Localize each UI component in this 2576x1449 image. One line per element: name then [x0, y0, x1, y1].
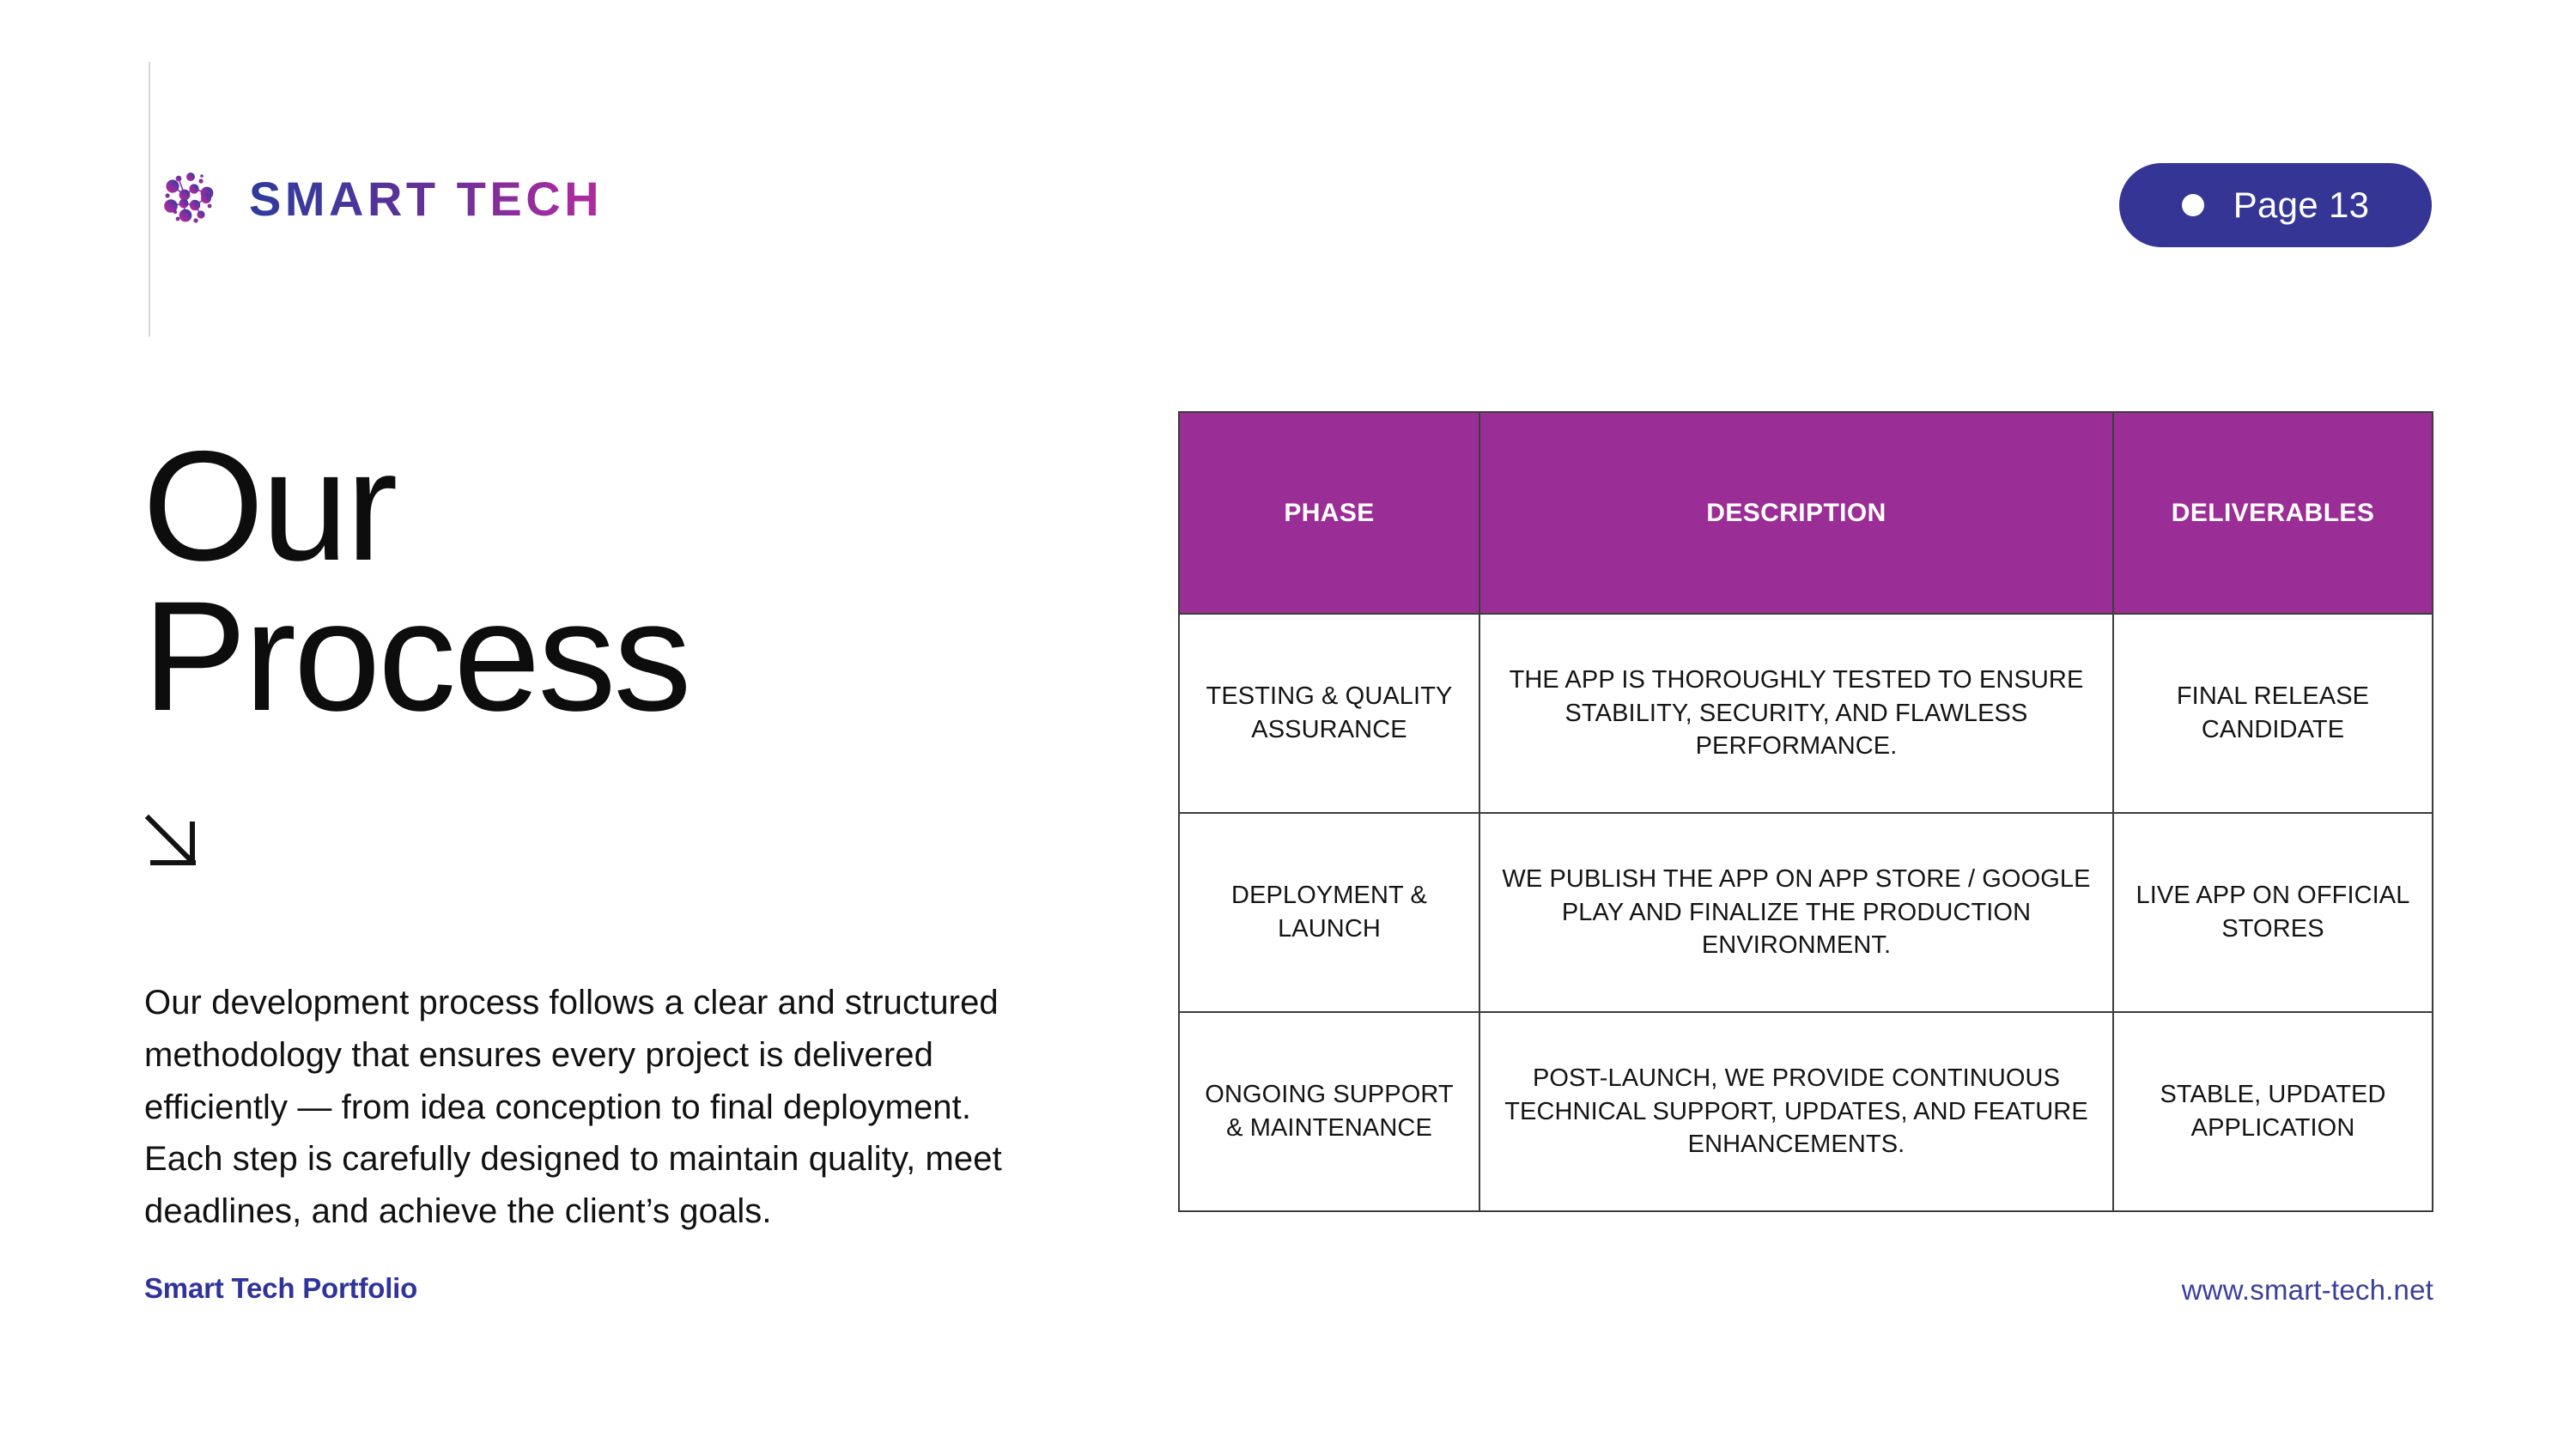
brand-name: SMART TECH — [249, 175, 603, 223]
cell-deliverables: LIVE APP ON OFFICIAL STORES — [2113, 813, 2433, 1012]
cell-deliverables: STABLE, UPDATED APPLICATION — [2113, 1012, 2433, 1211]
table-row: ONGOING SUPPORT & MAINTENANCE POST-LAUNC… — [1179, 1012, 2433, 1211]
brand-lockup: SMART TECH — [160, 167, 603, 231]
page-title-line-1: Our — [143, 431, 1053, 581]
page-title-line-2: Process — [143, 581, 1053, 731]
cell-deliverables: FINAL RELEASE CANDIDATE — [2113, 614, 2433, 813]
process-table: PHASE DESCRIPTION DELIVERABLES TESTING &… — [1178, 411, 2433, 1212]
cell-phase: DEPLOYMENT & LAUNCH — [1179, 813, 1479, 1012]
page-badge-label: Page 13 — [2233, 187, 2370, 223]
cell-description: WE PUBLISH THE APP ON APP STORE / GOOGLE… — [1479, 813, 2113, 1012]
left-accent-rule — [149, 62, 150, 336]
molecule-network-icon — [160, 167, 223, 231]
column-header-description: DESCRIPTION — [1479, 412, 2113, 614]
footer-website-link[interactable]: www.smart-tech.net — [2182, 1274, 2433, 1307]
arrow-down-right-icon — [144, 814, 201, 870]
column-header-deliverables: DELIVERABLES — [2113, 412, 2433, 614]
cell-description: POST-LAUNCH, WE PROVIDE CONTINUOUS TECHN… — [1479, 1012, 2113, 1211]
footer-portfolio-label: Smart Tech Portfolio — [144, 1272, 417, 1305]
table-row: DEPLOYMENT & LAUNCH WE PUBLISH THE APP O… — [1179, 813, 2433, 1012]
cell-phase: ONGOING SUPPORT & MAINTENANCE — [1179, 1012, 1479, 1211]
page-badge[interactable]: Page 13 — [2119, 163, 2432, 247]
body-paragraph: Our development process follows a clear … — [144, 977, 1054, 1238]
cell-phase: TESTING & QUALITY ASSURANCE — [1179, 614, 1479, 813]
column-header-phase: PHASE — [1179, 412, 1479, 614]
table-header-row: PHASE DESCRIPTION DELIVERABLES — [1179, 412, 2433, 614]
bullet-dot-icon — [2182, 194, 2204, 216]
page-title: Our Process — [143, 431, 1053, 731]
table-row: TESTING & QUALITY ASSURANCE THE APP IS T… — [1179, 614, 2433, 813]
cell-description: THE APP IS THOROUGHLY TESTED TO ENSURE S… — [1479, 614, 2113, 813]
